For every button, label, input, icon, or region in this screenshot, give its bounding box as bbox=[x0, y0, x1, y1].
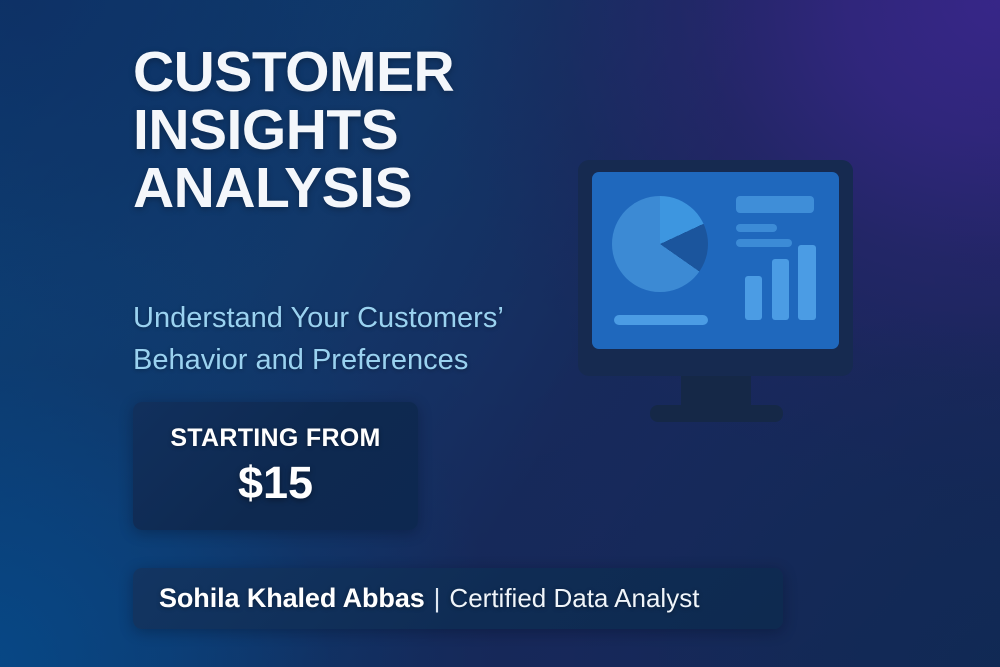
subtitle-line-2: Behavior and Preferences bbox=[133, 339, 613, 381]
text-block-heading bbox=[736, 196, 814, 213]
monitor-neck bbox=[681, 375, 751, 409]
author-separator: | bbox=[434, 583, 441, 614]
price-label: STARTING FROM bbox=[170, 423, 380, 453]
text-block-line-2 bbox=[736, 239, 792, 247]
bar-chart-bar-1 bbox=[745, 276, 762, 320]
bar-chart-bar-2 bbox=[772, 259, 789, 320]
author-bar: Sohila Khaled Abbas | Certified Data Ana… bbox=[133, 568, 783, 629]
pie-chart-icon bbox=[612, 196, 708, 292]
page-title: CUSTOMER INSIGHTS ANALYSIS bbox=[133, 43, 603, 217]
page-subtitle: Understand Your Customers’ Behavior and … bbox=[133, 297, 613, 381]
author-name: Sohila Khaled Abbas bbox=[159, 583, 425, 614]
poster-canvas: CUSTOMER INSIGHTS ANALYSIS Understand Yo… bbox=[0, 0, 1000, 667]
monitor-base bbox=[650, 405, 783, 422]
author-role: Certified Data Analyst bbox=[449, 583, 699, 614]
text-block-line-1 bbox=[736, 224, 777, 232]
monitor-icon bbox=[578, 160, 853, 376]
poster-content: CUSTOMER INSIGHTS ANALYSIS Understand Yo… bbox=[0, 0, 1000, 667]
monitor-screen bbox=[592, 172, 839, 349]
footer-bar-block bbox=[614, 315, 708, 325]
price-card: STARTING FROM $15 bbox=[133, 402, 418, 530]
price-value: $15 bbox=[238, 457, 313, 509]
subtitle-line-1: Understand Your Customers’ bbox=[133, 297, 613, 339]
bar-chart-bar-3 bbox=[798, 245, 816, 320]
headline-line-3: ANALYSIS bbox=[133, 159, 603, 217]
headline-line-2: INSIGHTS bbox=[133, 101, 603, 159]
headline-line-1: CUSTOMER bbox=[133, 43, 603, 101]
